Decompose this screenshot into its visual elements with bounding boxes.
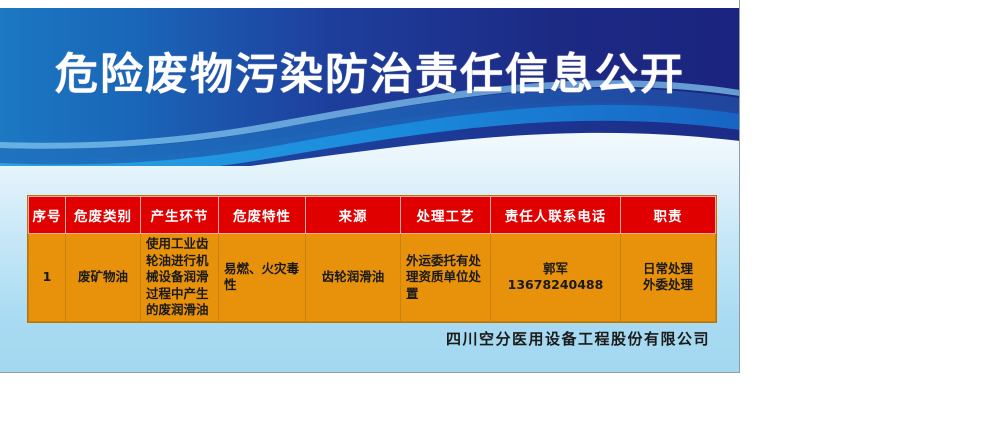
column-header-contact: 责任人联系电话 <box>491 197 621 234</box>
cell-duty: 日常处理 外委处理 <box>621 234 716 322</box>
column-header-category: 危废类别 <box>66 197 141 234</box>
cell-category: 废矿物油 <box>66 234 141 322</box>
responsible-person-name: 郭军 <box>494 261 617 278</box>
cell-index: 1 <box>29 234 66 322</box>
column-header-stage: 产生环节 <box>141 197 219 234</box>
poster-banner: 危险废物污染防治责任信息公开 <box>0 8 740 166</box>
table-row: 1 废矿物油 使用工业齿轮油进行机械设备润滑过程中产生的废润滑油 易燃、火灾毒性… <box>29 234 716 322</box>
cell-generation-stage: 使用工业齿轮油进行机械设备润滑过程中产生的废润滑油 <box>141 234 219 322</box>
column-header-treatment: 处理工艺 <box>401 197 491 234</box>
column-header-properties: 危废特性 <box>219 197 306 234</box>
page-title: 危险废物污染防治责任信息公开 <box>0 53 740 98</box>
duty-line-1: 日常处理 <box>624 261 712 278</box>
cell-treatment-process: 外运委托有处理资质单位处置 <box>401 234 491 322</box>
hazardous-waste-table: 序号 危废类别 产生环节 危废特性 来源 处理工艺 责任人联系电话 职责 1 废… <box>28 196 716 322</box>
table-header-row: 序号 危废类别 产生环节 危废特性 来源 处理工艺 责任人联系电话 职责 <box>29 197 716 234</box>
column-header-source: 来源 <box>306 197 401 234</box>
responsible-person-phone: 13678240488 <box>494 277 617 294</box>
duty-line-2: 外委处理 <box>624 277 712 294</box>
column-header-duty: 职责 <box>621 197 716 234</box>
cell-characteristics: 易燃、火灾毒性 <box>219 234 306 322</box>
cell-responsible-contact: 郭军 13678240488 <box>491 234 621 322</box>
column-header-index: 序号 <box>29 197 66 234</box>
information-disclosure-poster: 危险废物污染防治责任信息公开 序号 危废类别 产生环节 危废特性 来源 处理工艺… <box>0 0 740 373</box>
cell-source: 齿轮润滑油 <box>306 234 401 322</box>
company-name: 四川空分医用设备工程股份有限公司 <box>0 328 710 349</box>
